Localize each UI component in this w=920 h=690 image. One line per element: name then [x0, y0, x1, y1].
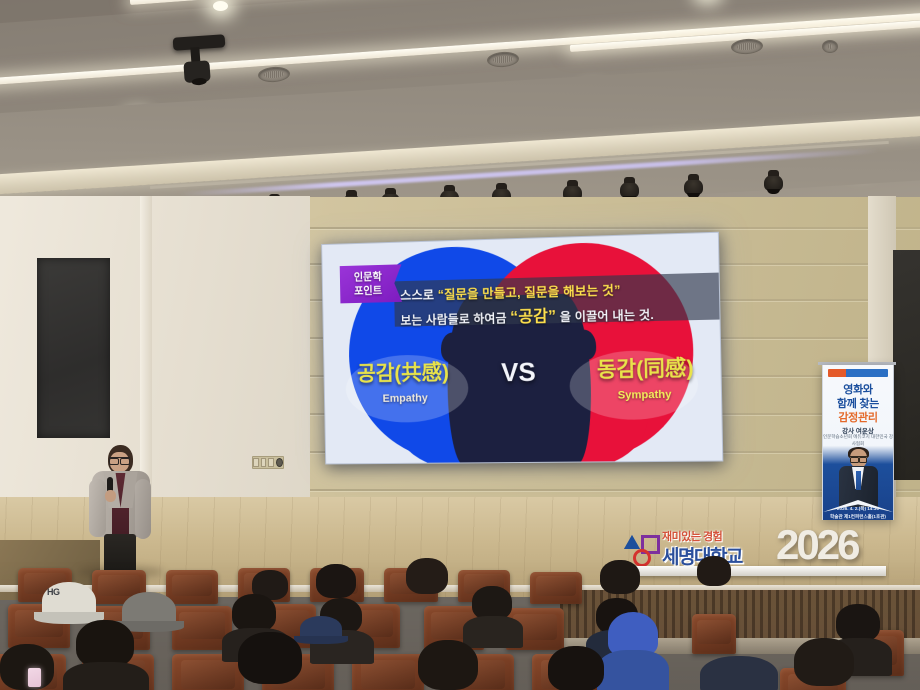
audience-head	[600, 560, 640, 594]
outlet-socket	[253, 458, 259, 467]
audience-member	[76, 620, 136, 690]
audience-member	[697, 556, 731, 594]
portrait-necktie	[856, 471, 861, 490]
audience-navy-cap	[300, 616, 342, 642]
audience-head	[794, 638, 854, 686]
audience-member-hoodie	[608, 612, 660, 690]
presenter-arm-right	[135, 479, 151, 539]
audience-head	[700, 656, 778, 690]
audience-member	[472, 586, 514, 642]
audience-shoulders	[63, 662, 149, 690]
glasses-icon	[109, 457, 130, 463]
audience-head	[406, 558, 448, 594]
projection-screen: 스스로 “질문을 만들고, 질문을 해보는 것” 보는 사람들로 하여금 “공감…	[321, 232, 723, 465]
stage-spotlight	[620, 182, 639, 198]
audience-hoodie-body	[597, 650, 669, 690]
presenter-hand	[105, 490, 116, 502]
auditorium-photo: 스스로 “질문을 만들고, 질문을 해보는 것” 보는 사람들로 하여금 “공감…	[0, 0, 920, 690]
audience-head	[316, 564, 356, 598]
audience-member	[794, 638, 856, 690]
seat[interactable]	[530, 572, 582, 604]
ceiling-downlight	[213, 1, 228, 11]
audience-member	[600, 560, 640, 602]
audience-member	[700, 656, 780, 690]
quote2-prefix: 보는 사람들로 하여금	[400, 311, 510, 327]
right-term-label: 동감(同感)	[597, 352, 694, 384]
rollup-banner: 영화와 함께 찾는 감정관리 강사 여운상 인문학습소년회 에듀코치 대한민국 …	[822, 365, 894, 520]
portrait-glasses-icon	[850, 456, 867, 461]
right-dark-panel	[893, 250, 920, 480]
audience-head	[0, 644, 54, 690]
audience-phone-screen[interactable]	[28, 668, 41, 687]
banner-datetime: 2026. 4. 2.(목) 14:30	[823, 505, 893, 513]
outlet-socket	[261, 458, 267, 467]
banner-speaker-portrait	[837, 449, 879, 507]
quote2-suffix: 을 이끌어 내는 것.	[556, 308, 654, 324]
audience-member	[406, 558, 448, 602]
audience-area: HG	[0, 560, 920, 690]
seat[interactable]	[692, 614, 736, 654]
audience-member	[238, 632, 304, 690]
ribbon-line-2: 포인트	[354, 284, 382, 299]
ceiling-sprinkler	[822, 40, 838, 53]
ceiling-speaker-grille	[258, 66, 291, 83]
presenter	[88, 445, 154, 575]
vs-label: VS	[501, 357, 536, 389]
quote-prefix: 스스로	[400, 288, 438, 303]
outlet-port	[276, 458, 283, 467]
dark-wall-panel	[37, 258, 110, 438]
banner-affiliation: 인문학습소년회 에듀코치 대한민국 강사협회	[823, 434, 893, 448]
humanities-point-ribbon: 인문학 포인트	[340, 264, 402, 303]
ribbon-line-1: 인문학	[354, 270, 382, 285]
stage-spotlight	[684, 179, 703, 195]
audience-head	[76, 620, 134, 668]
left-term-label: 공감(共感)	[357, 356, 449, 387]
audience-member	[548, 646, 606, 690]
audience-head	[548, 646, 604, 690]
right-term-subtitle: Sympathy	[618, 389, 672, 402]
stage-spotlight	[764, 175, 783, 191]
projector-lens	[192, 78, 207, 86]
banner-title-line-3: 감정관리	[823, 409, 893, 425]
ceiling-projector	[173, 34, 226, 51]
audience-head	[238, 632, 302, 684]
audience-head	[472, 586, 512, 620]
audience-head	[232, 594, 276, 632]
ceiling-speaker-grille	[731, 38, 764, 55]
audience-white-cap: HG	[42, 582, 96, 622]
ceiling-speaker-grille	[487, 51, 520, 68]
banner-schedule: 2026. 4. 2.(목) 14:30 학술관 제1컨퍼런스홀(1호관)	[823, 505, 893, 520]
cap-logo-text: HG	[47, 587, 60, 597]
presentation-slide: 스스로 “질문을 만들고, 질문을 해보는 것” 보는 사람들로 하여금 “공감…	[322, 233, 722, 464]
audience-member	[418, 640, 480, 690]
logo-triangle-icon	[624, 535, 640, 549]
audience-head	[836, 604, 880, 642]
audience-head	[697, 556, 731, 586]
presenter-arm-left	[89, 479, 106, 537]
audience-head	[418, 640, 478, 690]
center-neck	[470, 426, 570, 463]
quote2-highlight: “공감”	[510, 308, 556, 326]
left-term-subtitle: Empathy	[383, 392, 428, 405]
seat[interactable]	[166, 570, 218, 604]
banner-location: 학술관 제1컨퍼런스홀(1호관)	[823, 513, 893, 520]
banner-header-strip	[828, 369, 888, 377]
wall-outlet-plate[interactable]	[252, 456, 284, 469]
outlet-socket	[268, 458, 274, 467]
